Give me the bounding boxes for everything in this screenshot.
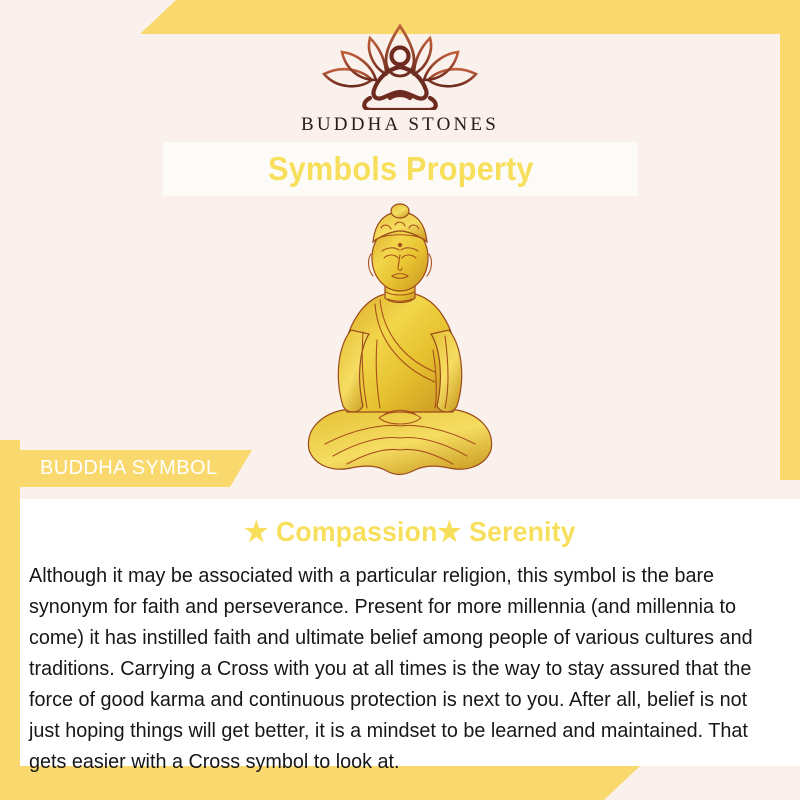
- buddha-symbol-tag-label: BUDDHA SYMBOL: [20, 457, 217, 480]
- brand-name: BUDDHA STONES: [301, 114, 499, 136]
- brand-logo: BUDDHA STONES: [0, 22, 800, 136]
- seated-golden-buddha-statue-icon: [285, 200, 515, 490]
- content-card: ★ Compassion★ Serenity Although it may b…: [20, 499, 800, 766]
- poster-root: BUDDHA STONES Symbols Property: [0, 0, 800, 800]
- buddha-symbol-tag: BUDDHA SYMBOL: [20, 450, 252, 487]
- section-body-text: Although it may be associated with a par…: [29, 560, 761, 777]
- lotus-meditation-figure-icon: [312, 22, 488, 110]
- title-banner: Symbols Property: [164, 143, 637, 195]
- page-title: Symbols Property: [268, 150, 534, 188]
- decorative-left-bar: [0, 440, 20, 770]
- section-subtitle: ★ Compassion★ Serenity: [40, 515, 781, 548]
